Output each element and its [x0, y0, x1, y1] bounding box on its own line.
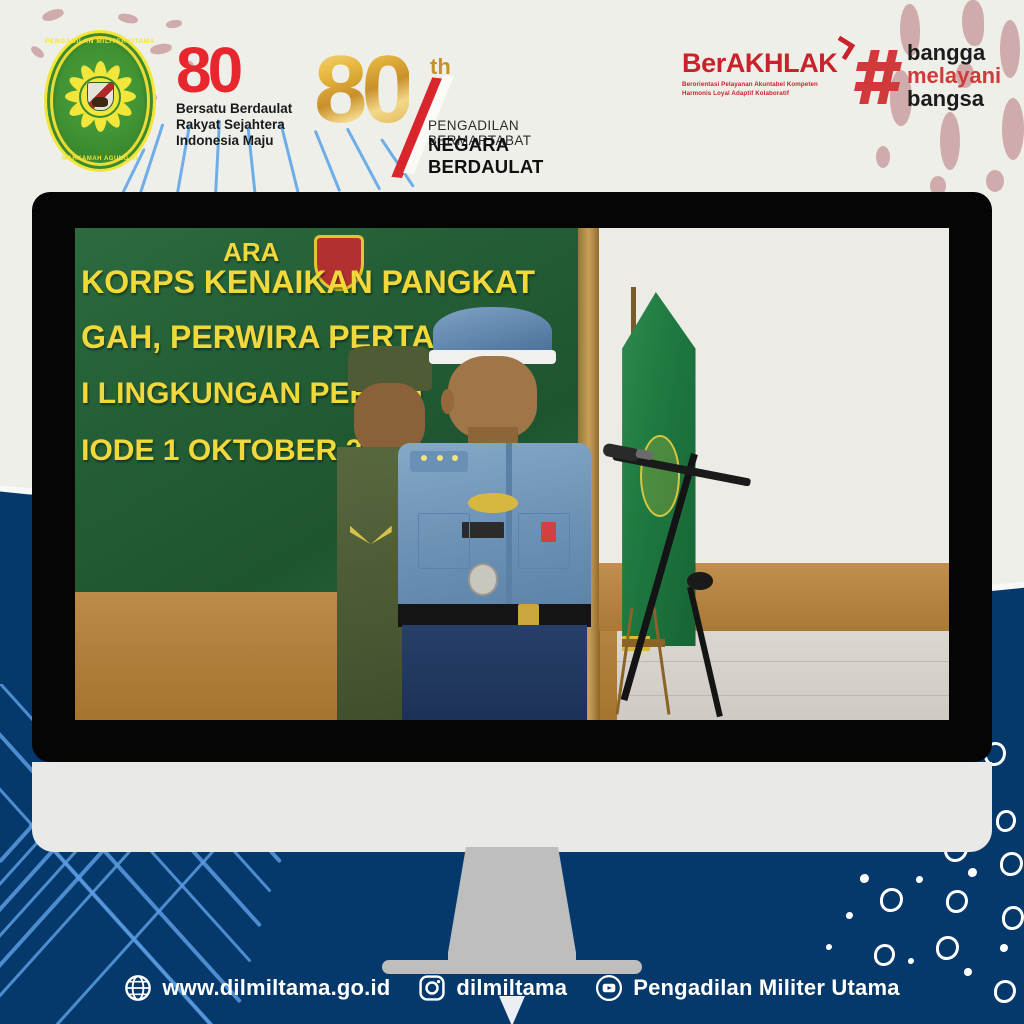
footer-website-label: www.dilmiltama.go.id [162, 975, 390, 1001]
bangga-word-1: bangga [907, 42, 1001, 65]
header-logo-bar: PENGADILAN MILITER UTAMA MAHKAMAH AGUNG … [0, 0, 1024, 185]
officer-trousers [402, 625, 587, 720]
poster-canvas: PENGADILAN MILITER UTAMA MAHKAMAH AGUNG … [0, 0, 1024, 1024]
bangga-word-2: melayani [907, 65, 1001, 88]
hut-ma-number: 80 [314, 42, 409, 138]
footer-youtube-label: Pengadilan Militer Utama [633, 975, 899, 1001]
bangga-words: bangga melayani bangsa [907, 42, 1001, 111]
hashtag-icon [855, 48, 901, 106]
monitor-chin [32, 762, 992, 852]
instagram-icon [418, 974, 446, 1002]
emblem-inner-disc [79, 76, 121, 118]
hut-ma-tagline-line2: NEGARA BERDAULAT [428, 134, 595, 178]
hut-ri-80-logo: 80 Bersatu Berdaulat Rakyat Sejahtera In… [176, 44, 304, 148]
hut-ri-tagline-line2: Rakyat Sejahtera [176, 117, 304, 133]
hut-ri-tagline-line1: Bersatu Berdaulat [176, 101, 304, 117]
officer-uniform-placket [506, 443, 512, 608]
footer-instagram[interactable]: dilmiltama [418, 974, 567, 1002]
location-pin-decor-icon [499, 996, 525, 1024]
officer-belt [398, 604, 590, 627]
monitor-screen: ARA KORPS KENAIKAN PANGKAT GAH, PERWIRA … [75, 228, 949, 720]
hut-ri-tagline-line3: Indonesia Maju [176, 133, 304, 149]
monitor-stand-neck [448, 847, 576, 967]
footer-youtube[interactable]: Pengadilan Militer Utama [595, 974, 899, 1002]
officer-pilot-wings-badge [468, 493, 518, 514]
hut-ri-number: 80 [176, 44, 304, 96]
officer-ear [441, 389, 454, 414]
officer-belt-buckle [518, 604, 539, 627]
officer-rank-epaulette [410, 451, 468, 472]
hut-ma-80th-logo: 80 th PENGADILAN BERMARTABAT NEGARA BERD… [310, 34, 595, 169]
officer-pocket-left [418, 513, 470, 569]
bangga-word-3: bangsa [907, 88, 1001, 111]
photo-flag-emblem [640, 435, 681, 518]
photo-mic-joint [687, 572, 713, 590]
event-photo: ARA KORPS KENAIKAN PANGKAT GAH, PERWIRA … [75, 228, 949, 720]
berakhlak-subtitle-line2: Harmonis Loyal Adaptif Kolaboratif [682, 90, 842, 99]
banner-line-1: KORPS KENAIKAN PANGKAT [81, 264, 535, 301]
globe-icon [124, 974, 152, 1002]
emblem-shield-icon [87, 82, 114, 111]
footer-website[interactable]: www.dilmiltama.go.id [124, 974, 390, 1002]
hut-ri-tagline: Bersatu Berdaulat Rakyat Sejahtera Indon… [176, 101, 304, 148]
bangga-melayani-bangsa-logo: bangga melayani bangsa [855, 42, 1005, 120]
officer-ribbon-bar [541, 522, 556, 543]
photo-officer-airforce [398, 307, 590, 720]
monitor-mockup: ARA KORPS KENAIKAN PANGKAT GAH, PERWIRA … [32, 192, 992, 852]
berakhlak-text: BerAKHLAK [682, 48, 837, 78]
emblem-top-text: PENGADILAN MILITER UTAMA [44, 38, 156, 45]
berakhlak-logo: BerAKHLAK Berorientasi Pelayanan Akuntab… [682, 48, 842, 99]
berakhlak-subtitle-line1: Berorientasi Pelayanan Akuntabel Kompete… [682, 81, 842, 90]
youtube-icon [595, 974, 623, 1002]
officer-qualification-badge [468, 563, 499, 596]
berakhlak-subtitle: Berorientasi Pelayanan Akuntabel Kompete… [682, 81, 842, 99]
berakhlak-wordmark: BerAKHLAK [682, 48, 842, 79]
